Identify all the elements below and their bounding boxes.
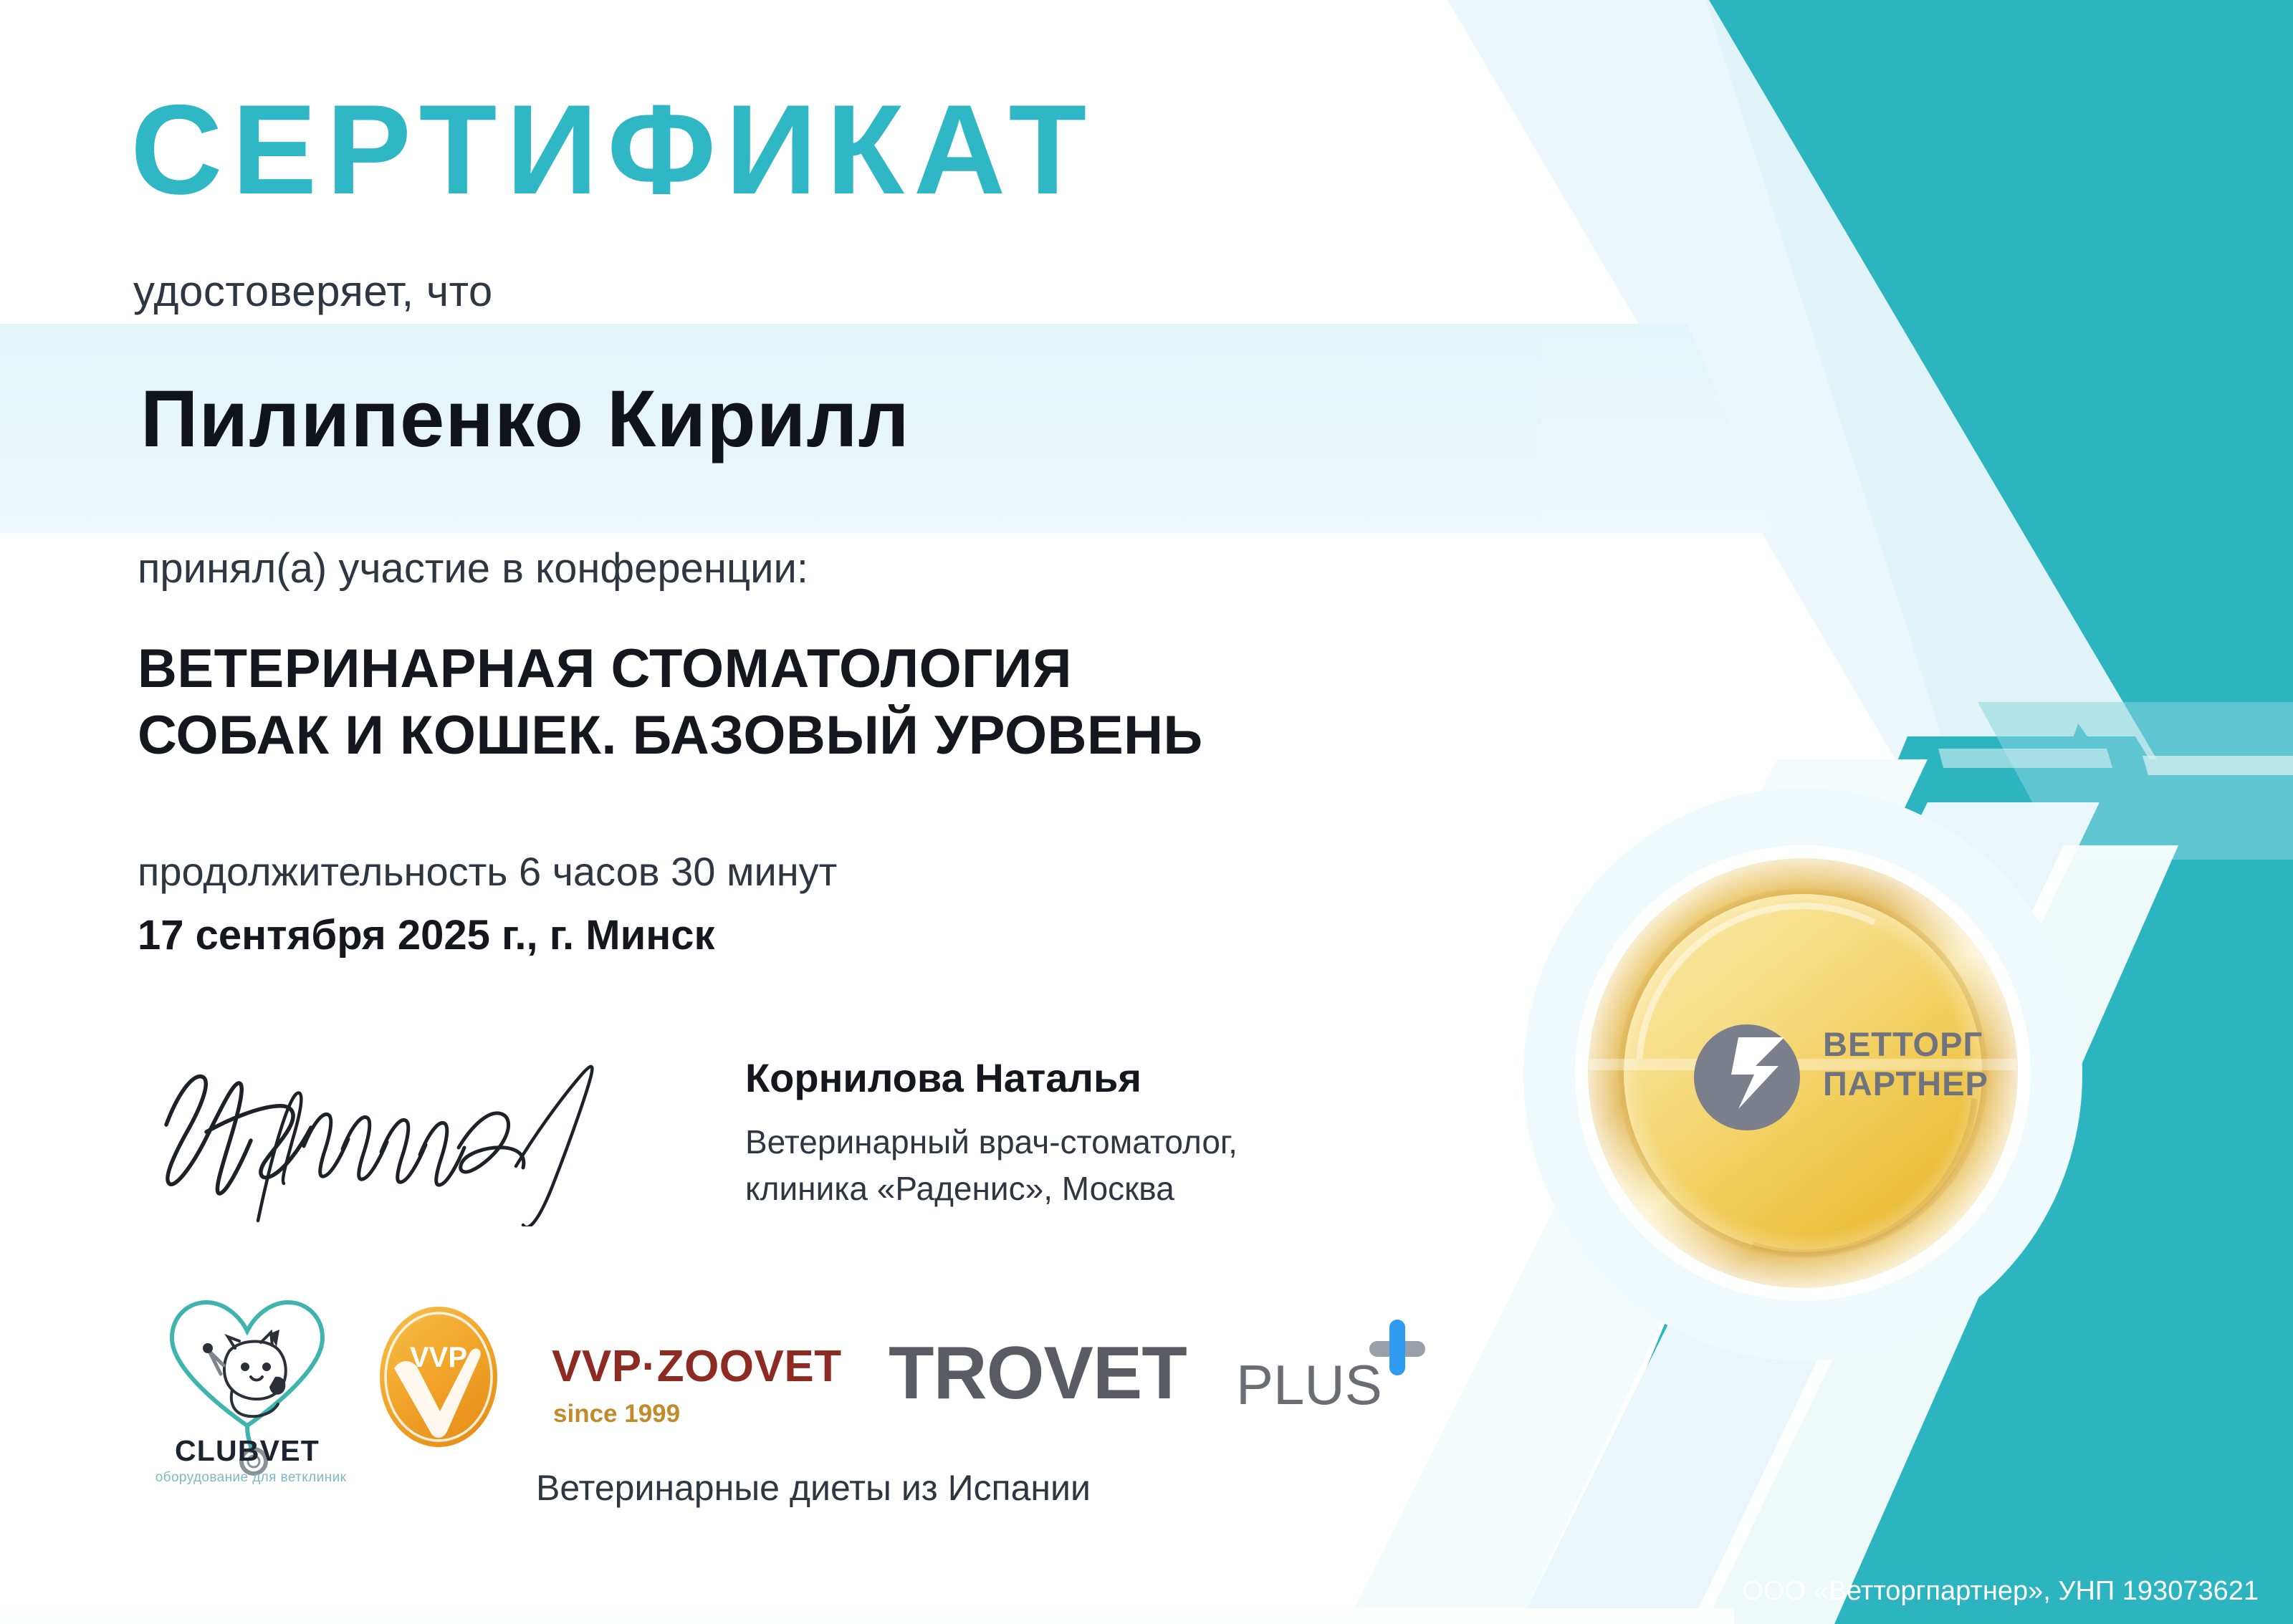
certifies-label: удостоверяет, что [133, 266, 493, 316]
speaker-role-line-2: клиника «Раденис», Москва [745, 1166, 1238, 1212]
partner-logos: CLUBVET оборудование для ветклиник VVP [0, 1282, 1576, 1583]
signature-icon [150, 1040, 724, 1226]
vvp-since-label: since 1999 [553, 1400, 680, 1428]
speaker-name: Корнилова Наталья [745, 1054, 1141, 1101]
trovet-plus-suffix: PLUS [1236, 1352, 1382, 1418]
page-title: СЕРТИФИКАТ [130, 86, 1096, 213]
recipient-name: Пилипенко Кирилл [140, 373, 910, 465]
conference-title: ВЕТЕРИНАРНАЯ СТОМАТОЛОГИЯ СОБАК И КОШЕК.… [138, 636, 1203, 769]
date-and-city: 17 сентября 2025 г., г. Минск [138, 911, 715, 959]
trovet-wordmark: TROVET [889, 1331, 1187, 1416]
certificate-page: СЕРТИФИКАТ удостоверяет, что Пилипенко К… [0, 0, 2293, 1624]
gold-seal-badge: ВЕТТОРГ ПАРТНЕР [1574, 844, 2032, 1302]
seal-brand-line-1: ВЕТТОРГ [1823, 1024, 1988, 1064]
conference-title-line-2: СОБАК И КОШЕК. БАЗОВЫЙ УРОВЕНЬ [138, 703, 1203, 769]
clubvet-logo: CLUBVET оборудование для ветклиник [143, 1282, 351, 1497]
footer-legal-text: ООО «Ветторгпартнер», УНП 193073621 [1742, 1576, 2259, 1607]
svg-text:VVP: VVP [410, 1342, 467, 1373]
seal-brand-line-2: ПАРТНЕР [1823, 1064, 1988, 1103]
speaker-role: Ветеринарный врач-стоматолог, клиника «Р… [745, 1119, 1238, 1213]
participation-label: принял(а) участие в конференции: [138, 544, 808, 592]
seal-brand-text: ВЕТТОРГ ПАРТНЕР [1823, 1024, 1988, 1104]
clubvet-tagline: оборудование для ветклиник [143, 1470, 358, 1486]
vvp-mark-icon: VVP [378, 1305, 499, 1448]
plus-cross-icon [1365, 1317, 1430, 1381]
clubvet-wordmark: CLUBVET [143, 1434, 351, 1468]
duration-label: продолжительность 6 часов 30 минут [138, 848, 837, 895]
conference-title-line-1: ВЕТЕРИНАРНАЯ СТОМАТОЛОГИЯ [138, 636, 1203, 703]
vvp-zoovet-wordmark: VVP·ZOOVET [552, 1341, 842, 1392]
trovet-tagline: Ветеринарные диеты из Испании [536, 1467, 1091, 1509]
speaker-role-line-1: Ветеринарный врач-стоматолог, [745, 1119, 1238, 1166]
